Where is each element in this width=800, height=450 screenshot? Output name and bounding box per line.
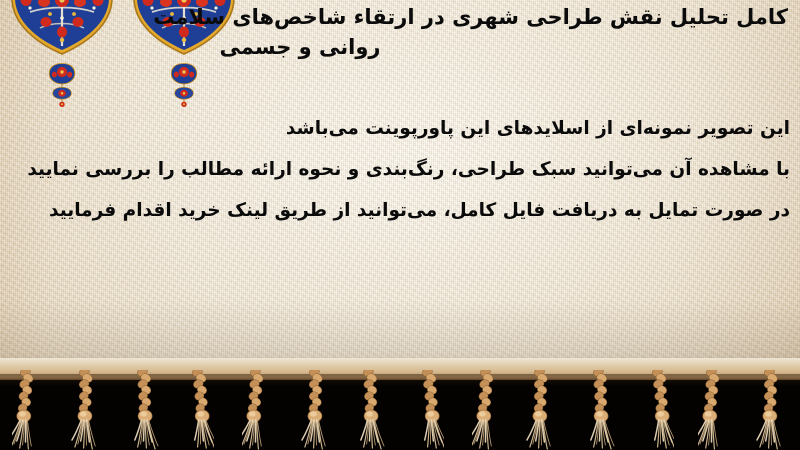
title-line-2: روانی و جسمی — [0, 32, 788, 62]
fringe-tassel — [526, 370, 556, 450]
presentation-slide: کامل تحلیل نقش طراحی شهری در ارتقاء شاخص… — [0, 0, 800, 450]
fringe-tassel — [71, 370, 101, 450]
slide-title: کامل تحلیل نقش طراحی شهری در ارتقاء شاخص… — [0, 2, 788, 62]
pendant-right — [171, 64, 197, 108]
body-line-3: در صورت تمایل به دریافت فایل کامل، می‌تو… — [8, 190, 790, 231]
fringe-tassel — [644, 370, 674, 450]
fringe-tassel — [472, 370, 502, 450]
fringe-tassel — [698, 370, 728, 450]
fringe-tassel — [355, 370, 385, 450]
fringe-tassel — [129, 370, 159, 450]
title-line-1: کامل تحلیل نقش طراحی شهری در ارتقاء شاخص… — [0, 2, 788, 32]
body-line-2: با مشاهده آن می‌توانید سبک طراحی، رنگ‌بن… — [8, 149, 790, 190]
body-line-1: این تصویر نمونه‌ای از اسلایدهای این پاور… — [8, 108, 790, 149]
fringe-tassel — [184, 370, 214, 450]
fringe-tassel — [585, 370, 615, 450]
slide-body: این تصویر نمونه‌ای از اسلایدهای این پاور… — [8, 108, 790, 231]
fringe-tassel — [301, 370, 331, 450]
fringe-tassel — [756, 370, 786, 450]
pendant-left — [49, 64, 75, 108]
carpet-fringe-band — [0, 358, 800, 450]
fringe-tassel — [242, 370, 272, 450]
fringe-tassel-row — [0, 370, 800, 450]
fringe-tassel — [12, 370, 42, 450]
fringe-tassel — [414, 370, 444, 450]
